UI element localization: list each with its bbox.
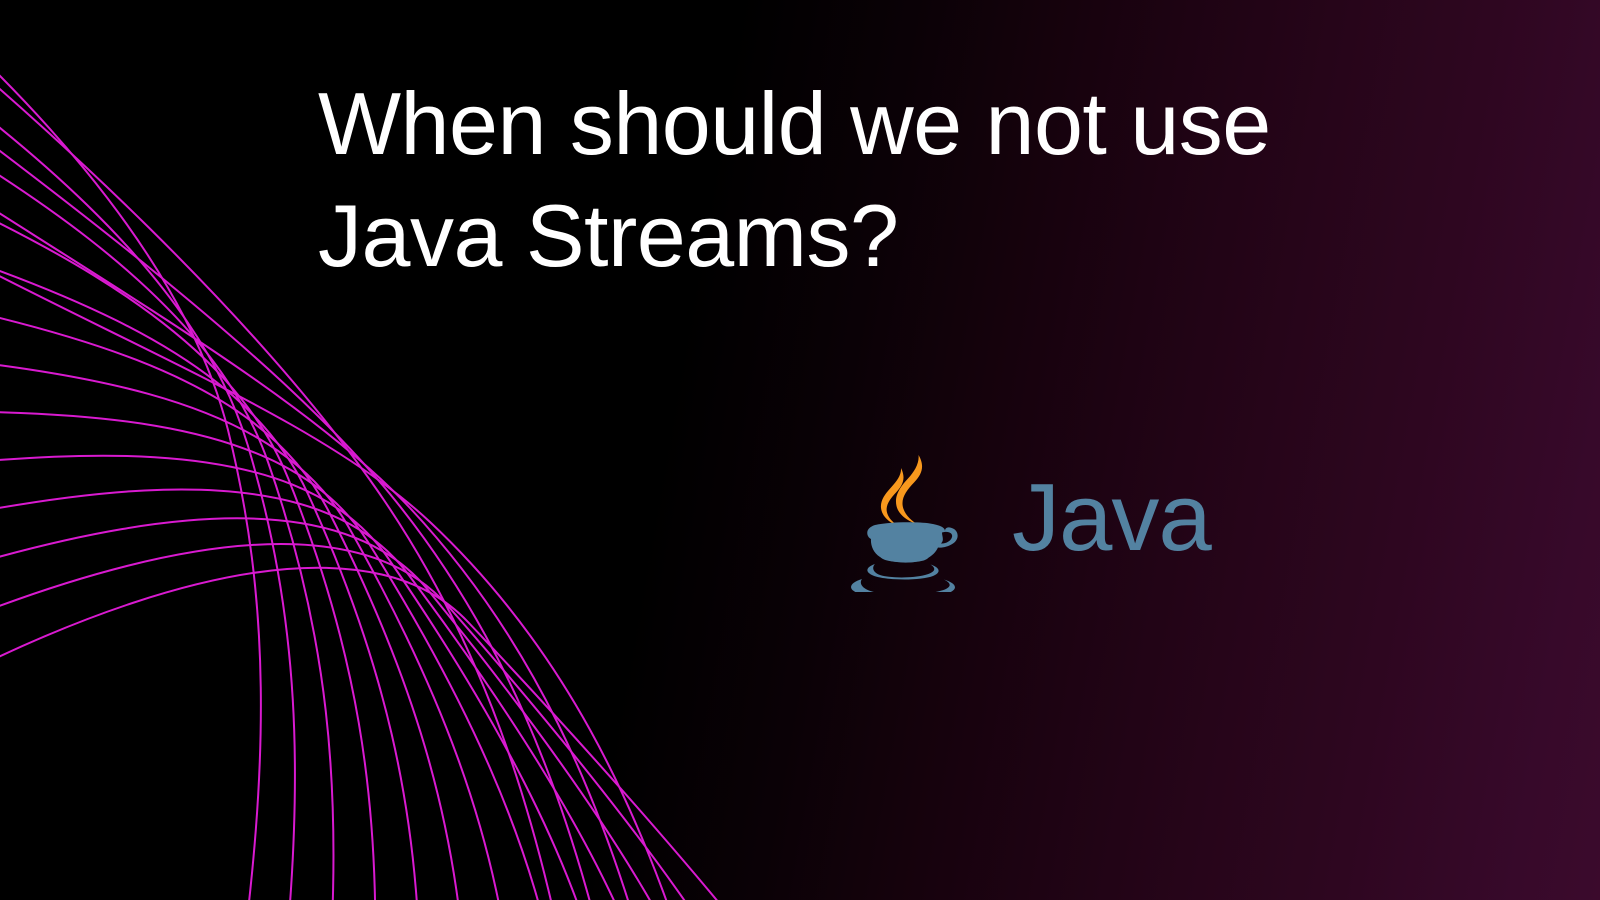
title-line-1: When should we not use	[318, 68, 1508, 180]
page-title: When should we not use Java Streams?	[318, 68, 1508, 292]
java-wordmark: Java	[1012, 470, 1211, 566]
java-steam-icon	[881, 455, 922, 526]
java-cup-icon	[846, 452, 964, 592]
slide-canvas: When should we not use Java Streams? Jav…	[0, 0, 1600, 900]
title-line-2: Java Streams?	[318, 180, 1508, 292]
java-logo: Java	[846, 452, 1211, 592]
